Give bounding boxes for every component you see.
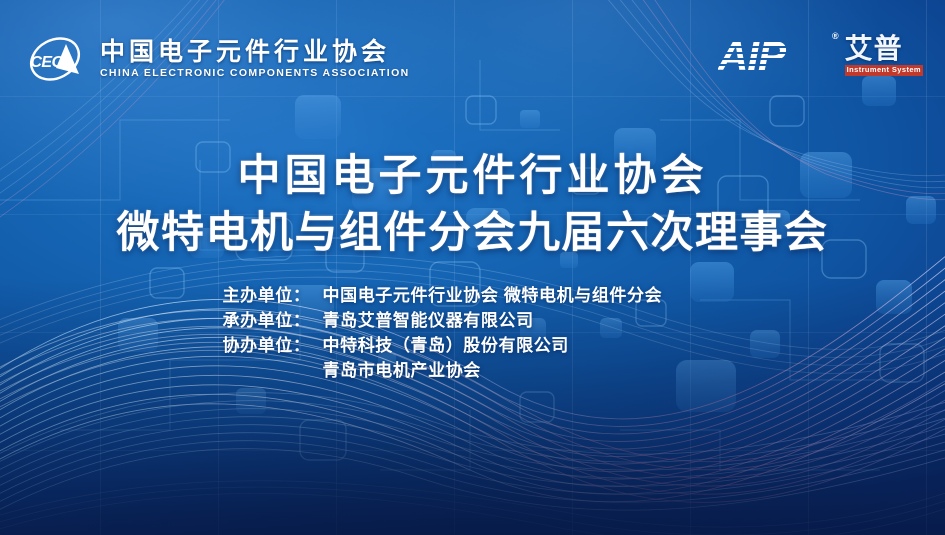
title-line-2: 微特电机与组件分会九届六次理事会 — [0, 204, 945, 262]
conference-banner: CECA 中国电子元件行业协会 CHINA ELECTRONIC COMPONE… — [0, 0, 945, 535]
organizer-row: 协办单位： 青岛市电机产业协会 — [223, 358, 723, 383]
organizer-row: 主办单位： 中国电子元件行业协会 微特电机与组件分会 — [223, 283, 723, 308]
organizer-value: 青岛市电机产业协会 — [323, 358, 723, 383]
aip-letters-icon: AIP — [718, 34, 830, 76]
svg-text:AIP: AIP — [718, 34, 787, 76]
organizer-value: 青岛艾普智能仪器有限公司 — [323, 308, 723, 333]
organizer-label: 主办单位： — [223, 283, 323, 308]
organizer-row: 协办单位： 中特科技（青岛）股份有限公司 — [223, 333, 723, 358]
svg-text:CECA: CECA — [30, 54, 73, 71]
organizer-value: 中国电子元件行业协会 微特电机与组件分会 — [323, 283, 723, 308]
ceca-logo: CECA 中国电子元件行业协会 CHINA ELECTRONIC COMPONE… — [22, 30, 410, 88]
aip-wordmark: AIP ® — [718, 34, 830, 76]
title-line-1: 中国电子元件行业协会 — [0, 148, 945, 204]
organizer-label: 协办单位： — [223, 333, 323, 358]
organizer-value: 中特科技（青岛）股份有限公司 — [323, 333, 723, 358]
organizer-label: 承办单位： — [223, 308, 323, 333]
aip-logo: AIP ® 艾普 Instrument System — [718, 34, 923, 76]
ceca-name-en: CHINA ELECTRONIC COMPONENTS ASSOCIATION — [100, 68, 410, 79]
aip-brand-cn: 艾普 — [845, 34, 923, 63]
organizer-list: 主办单位： 中国电子元件行业协会 微特电机与组件分会 承办单位： 青岛艾普智能仪… — [0, 283, 945, 383]
registered-trademark-icon: ® — [832, 32, 839, 41]
ceca-mark-icon: CECA — [22, 30, 88, 88]
banner-title-block: 中国电子元件行业协会 微特电机与组件分会九届六次理事会 — [0, 148, 945, 262]
aip-tagline: Instrument System — [845, 65, 923, 76]
ceca-name-cn: 中国电子元件行业协会 — [100, 40, 410, 65]
aip-cn-block: 艾普 Instrument System — [845, 34, 923, 76]
organizer-row: 承办单位： 青岛艾普智能仪器有限公司 — [223, 308, 723, 333]
